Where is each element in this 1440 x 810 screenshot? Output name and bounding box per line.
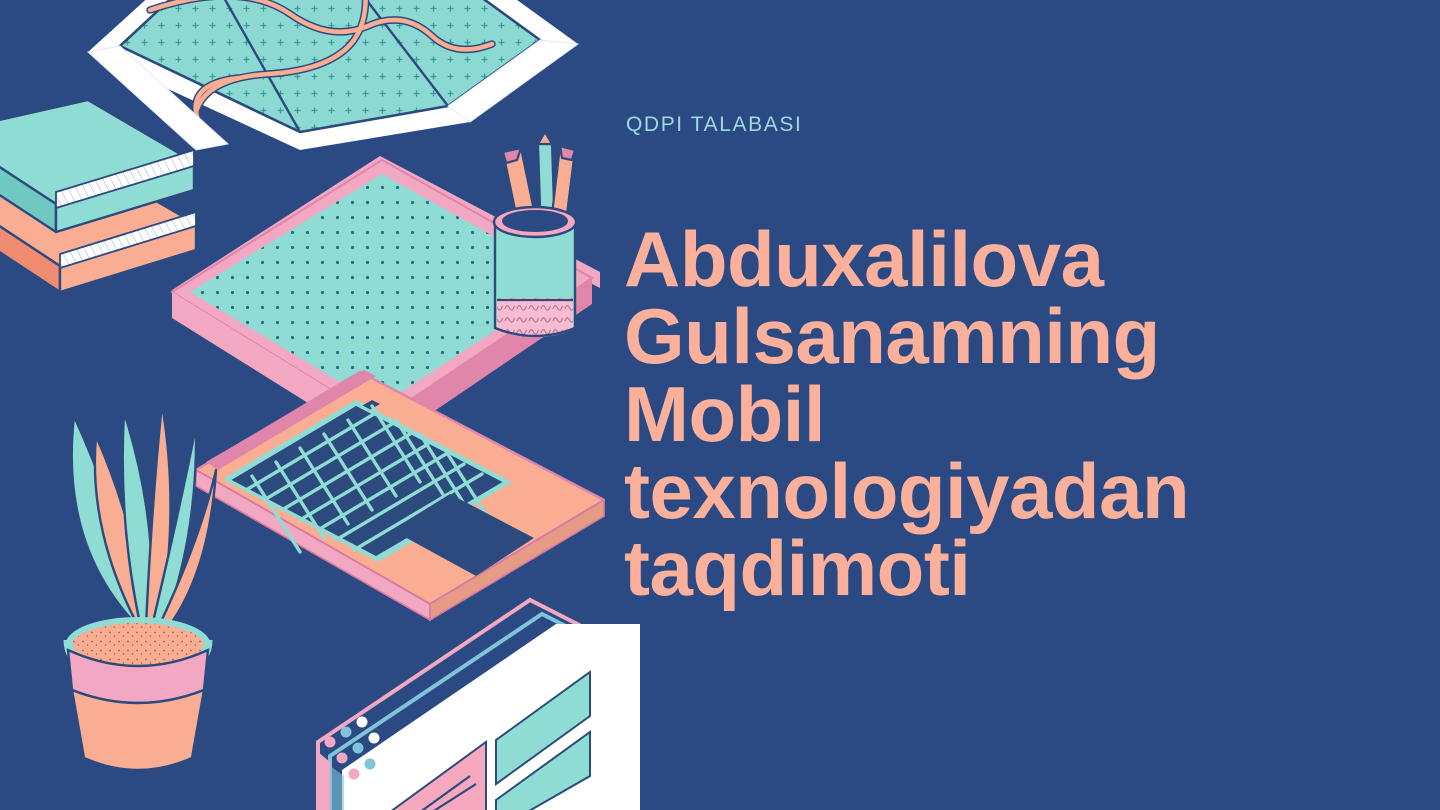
potted-plant (68, 404, 216, 770)
laptop (172, 156, 604, 620)
pencil-cup (490, 132, 585, 348)
eyebrow-label: QDPI TALABASI (626, 112, 1364, 137)
page-title: Abduxalilova Gulsanamning Mobil texnolog… (624, 221, 1364, 607)
title-slide: QDPI TALABASI Abduxalilova Gulsanamning … (0, 0, 1440, 810)
slide-text-block: QDPI TALABASI Abduxalilova Gulsanamning … (624, 112, 1364, 607)
desk-workspace-illustration (0, 0, 640, 810)
browser-windows (318, 600, 640, 810)
folded-map (88, 0, 578, 150)
stacked-books (0, 100, 196, 292)
